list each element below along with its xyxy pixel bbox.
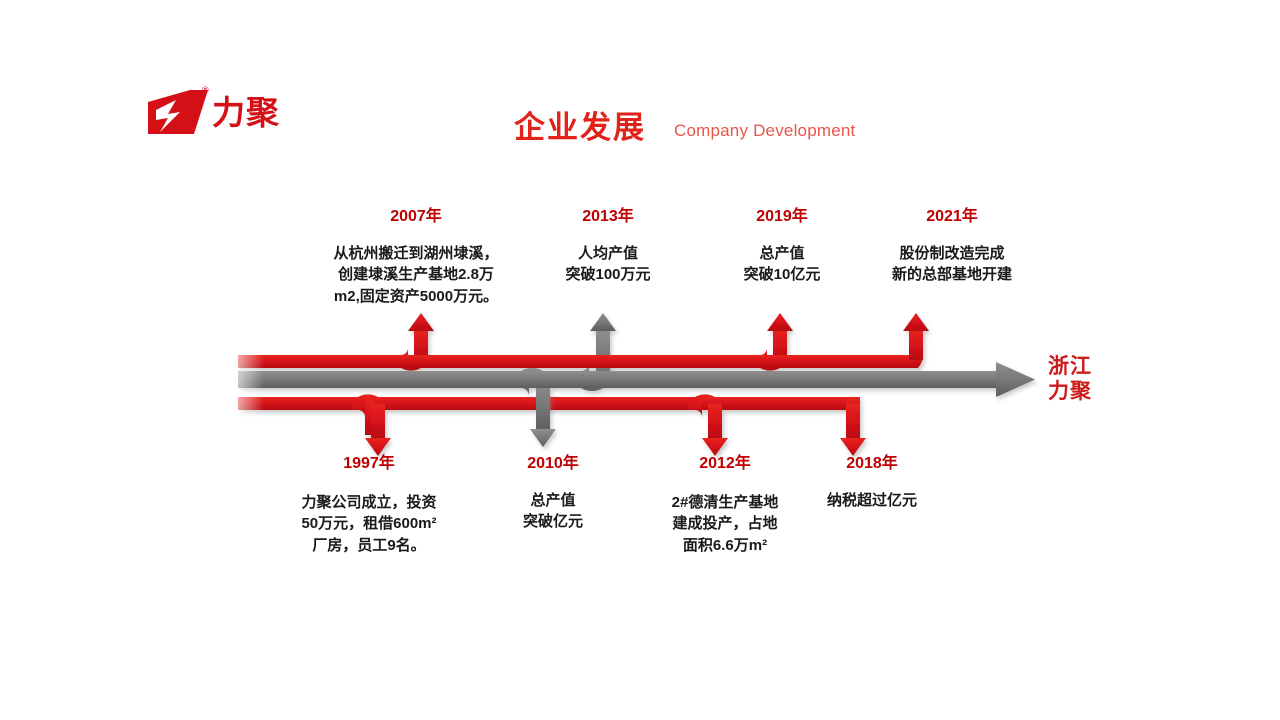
left-edge-fade xyxy=(228,345,264,425)
branch-2010-arrowhead xyxy=(530,429,556,447)
milestone-2013[interactable]: 2013年 人均产值 突破100万元 xyxy=(528,209,688,286)
branch-2018-arrowhead xyxy=(840,438,866,456)
main-gray-bar xyxy=(238,371,996,388)
milestone-desc-2018: 纳税超过亿元 xyxy=(784,490,960,511)
milestone-desc-line: 面积6.6万m² xyxy=(636,535,814,556)
milestone-desc-line: 突破100万元 xyxy=(528,264,688,285)
milestone-desc-line: 总产值 xyxy=(478,490,628,511)
end-label-line2: 力聚 xyxy=(1048,380,1092,405)
milestone-desc-1997: 力聚公司成立，投资 50万元，租借600m² 厂房，员工9名。 xyxy=(258,492,480,556)
milestone-desc-line: 新的总部基地开建 xyxy=(852,264,1052,285)
timeline-end-arrowhead xyxy=(996,362,1035,397)
milestone-desc-2019: 总产值 突破10亿元 xyxy=(700,243,864,286)
branch-2021-shaft xyxy=(909,330,923,360)
milestone-2018[interactable]: 2018年 纳税超过亿元 xyxy=(784,456,960,511)
milestone-desc-2010: 总产值 突破亿元 xyxy=(478,490,628,533)
milestone-desc-line: 突破10亿元 xyxy=(700,264,864,285)
milestone-2019[interactable]: 2019年 总产值 突破10亿元 xyxy=(700,209,864,286)
branch-2007-arrowhead xyxy=(408,313,434,331)
branch-2012-shaft xyxy=(708,404,722,439)
milestone-1997[interactable]: 1997年 力聚公司成立，投资 50万元，租借600m² 厂房，员工9名。 xyxy=(258,456,480,556)
branch-2013-arrowhead xyxy=(590,313,616,331)
milestone-year-2010: 2010年 xyxy=(478,456,628,472)
branch-2012-arrowhead xyxy=(702,438,728,456)
milestone-desc-line: m2,固定资产5000万元。 xyxy=(296,286,536,307)
milestone-desc-line: 股份制改造完成 xyxy=(852,243,1052,264)
upper-red-bar xyxy=(238,355,918,368)
timeline-band-upper-red xyxy=(238,313,929,371)
branch-2018-shaft xyxy=(846,404,860,439)
milestone-desc-line: 总产值 xyxy=(700,243,864,264)
milestone-desc-line: 厂房，员工9名。 xyxy=(258,535,480,556)
milestone-year-1997: 1997年 xyxy=(258,456,480,472)
branch-2021-arrowhead xyxy=(903,313,929,331)
milestone-year-2018: 2018年 xyxy=(784,456,960,472)
milestone-desc-2013: 人均产值 突破100万元 xyxy=(528,243,688,286)
milestone-desc-2007: 从杭州搬迁到湖州埭溪， 创建埭溪生产基地2.8万 m2,固定资产5000万元。 xyxy=(296,243,536,307)
milestone-year-2019: 2019年 xyxy=(700,209,864,225)
milestone-2010[interactable]: 2010年 总产值 突破亿元 xyxy=(478,456,628,533)
milestone-desc-line: 50万元，租借600m² xyxy=(258,513,480,534)
milestone-desc-2021: 股份制改造完成 新的总部基地开建 xyxy=(852,243,1052,286)
milestone-desc-line: 突破亿元 xyxy=(478,511,628,532)
milestone-year-2021: 2021年 xyxy=(852,209,1052,225)
milestone-desc-line: 建成投产，占地 xyxy=(636,513,814,534)
branch-1997-arrowhead xyxy=(365,438,391,456)
milestone-2021[interactable]: 2021年 股份制改造完成 新的总部基地开建 xyxy=(852,209,1052,286)
milestone-year-2013: 2013年 xyxy=(528,209,688,225)
milestone-desc-line: 人均产值 xyxy=(528,243,688,264)
branch-2019-arrowhead xyxy=(767,313,793,331)
end-label-line1: 浙江 xyxy=(1048,355,1092,380)
branch-1997-shaft xyxy=(371,404,385,439)
milestone-desc-line: 力聚公司成立，投资 xyxy=(258,492,480,513)
milestone-2007[interactable]: 2007年 从杭州搬迁到湖州埭溪， 创建埭溪生产基地2.8万 m2,固定资产50… xyxy=(296,209,536,307)
timeline-end-label: 浙江 力聚 xyxy=(1048,355,1092,405)
timeline-band-lower-red xyxy=(238,394,866,456)
milestone-desc-line: 创建埭溪生产基地2.8万 xyxy=(296,264,536,285)
milestone-desc-line: 从杭州搬迁到湖州埭溪， xyxy=(296,243,536,264)
milestone-year-2007: 2007年 xyxy=(296,209,536,225)
milestone-desc-line: 纳税超过亿元 xyxy=(784,490,960,511)
slide-canvas: { "brand": { "logo_word": "力聚", "registe… xyxy=(0,0,1280,720)
